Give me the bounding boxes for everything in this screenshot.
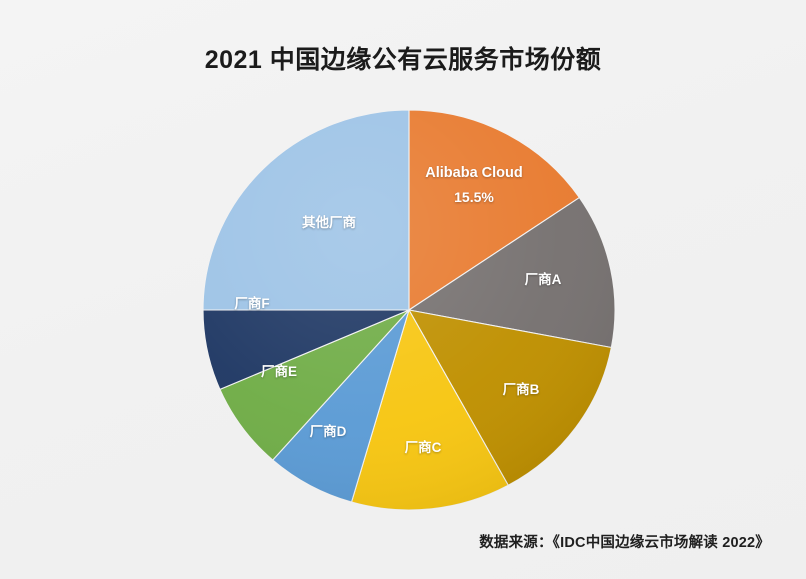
pie-sheen-overlay [203,110,615,510]
pie-chart: Alibaba Cloud15.5%厂商A厂商B厂商C厂商D厂商E厂商F其他厂商 [203,110,615,510]
chart-title: 2021 中国边缘公有云服务市场份额 [0,40,806,76]
source-note: 数据来源：《IDC中国边缘云市场解读 2022》 [479,531,770,552]
pie-chart-svg [203,110,615,510]
chart-card: 2021 中国边缘公有云服务市场份额 Alibaba Cloud15.5%厂商A… [0,0,806,579]
